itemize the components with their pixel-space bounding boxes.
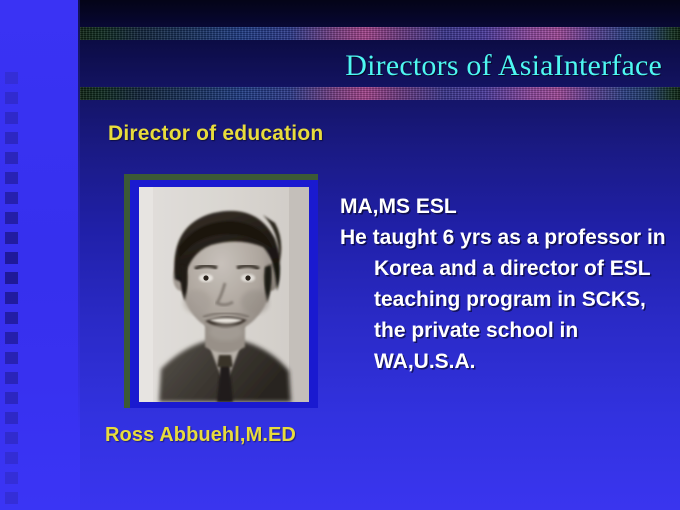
sidebar-dot xyxy=(5,452,18,464)
sidebar-dot xyxy=(5,152,18,164)
sidebar-edge-shadow xyxy=(78,0,80,510)
band-speckle xyxy=(80,87,680,100)
portrait-photo xyxy=(139,187,309,402)
body-line-2: He taught 6 yrs as a professor in Korea … xyxy=(340,222,670,377)
body-line-1: MA,MS ESL xyxy=(340,191,670,222)
sidebar-dot xyxy=(5,392,18,404)
sidebar-dot xyxy=(5,472,18,484)
section-heading: Director of education xyxy=(108,122,323,146)
sidebar-dot xyxy=(5,232,18,244)
slide-title: Directors of AsiaInterface xyxy=(345,49,662,83)
portrait-caption: Ross Abbuehl,M.ED xyxy=(105,424,296,447)
sidebar-dot xyxy=(5,212,18,224)
sidebar-dot xyxy=(5,192,18,204)
sidebar-dot xyxy=(5,132,18,144)
sidebar-dot xyxy=(5,352,18,364)
sidebar-dot xyxy=(5,332,18,344)
decorative-band-top xyxy=(80,27,680,40)
sidebar-dot xyxy=(5,172,18,184)
sidebar-dot xyxy=(5,372,18,384)
sidebar-dot xyxy=(5,432,18,444)
sidebar-dot xyxy=(5,92,18,104)
sidebar-dot xyxy=(5,272,18,284)
sidebar-dot-column xyxy=(5,72,19,502)
slide-canvas: Directors of AsiaInterface Director of e… xyxy=(0,0,680,510)
sidebar-dot xyxy=(5,112,18,124)
body-text-block: MA,MS ESL He taught 6 yrs as a professor… xyxy=(340,191,670,377)
decorative-band-bottom xyxy=(80,87,680,100)
band-speckle xyxy=(80,27,680,40)
portrait-frame xyxy=(124,174,318,408)
portrait-image xyxy=(139,187,309,402)
sidebar-dot xyxy=(5,492,18,504)
sidebar-dot xyxy=(5,412,18,424)
sidebar-dot xyxy=(5,72,18,84)
sidebar-dot xyxy=(5,312,18,324)
sidebar-dot xyxy=(5,252,18,264)
portrait-inner-border xyxy=(130,180,318,408)
sidebar-dot xyxy=(5,292,18,304)
